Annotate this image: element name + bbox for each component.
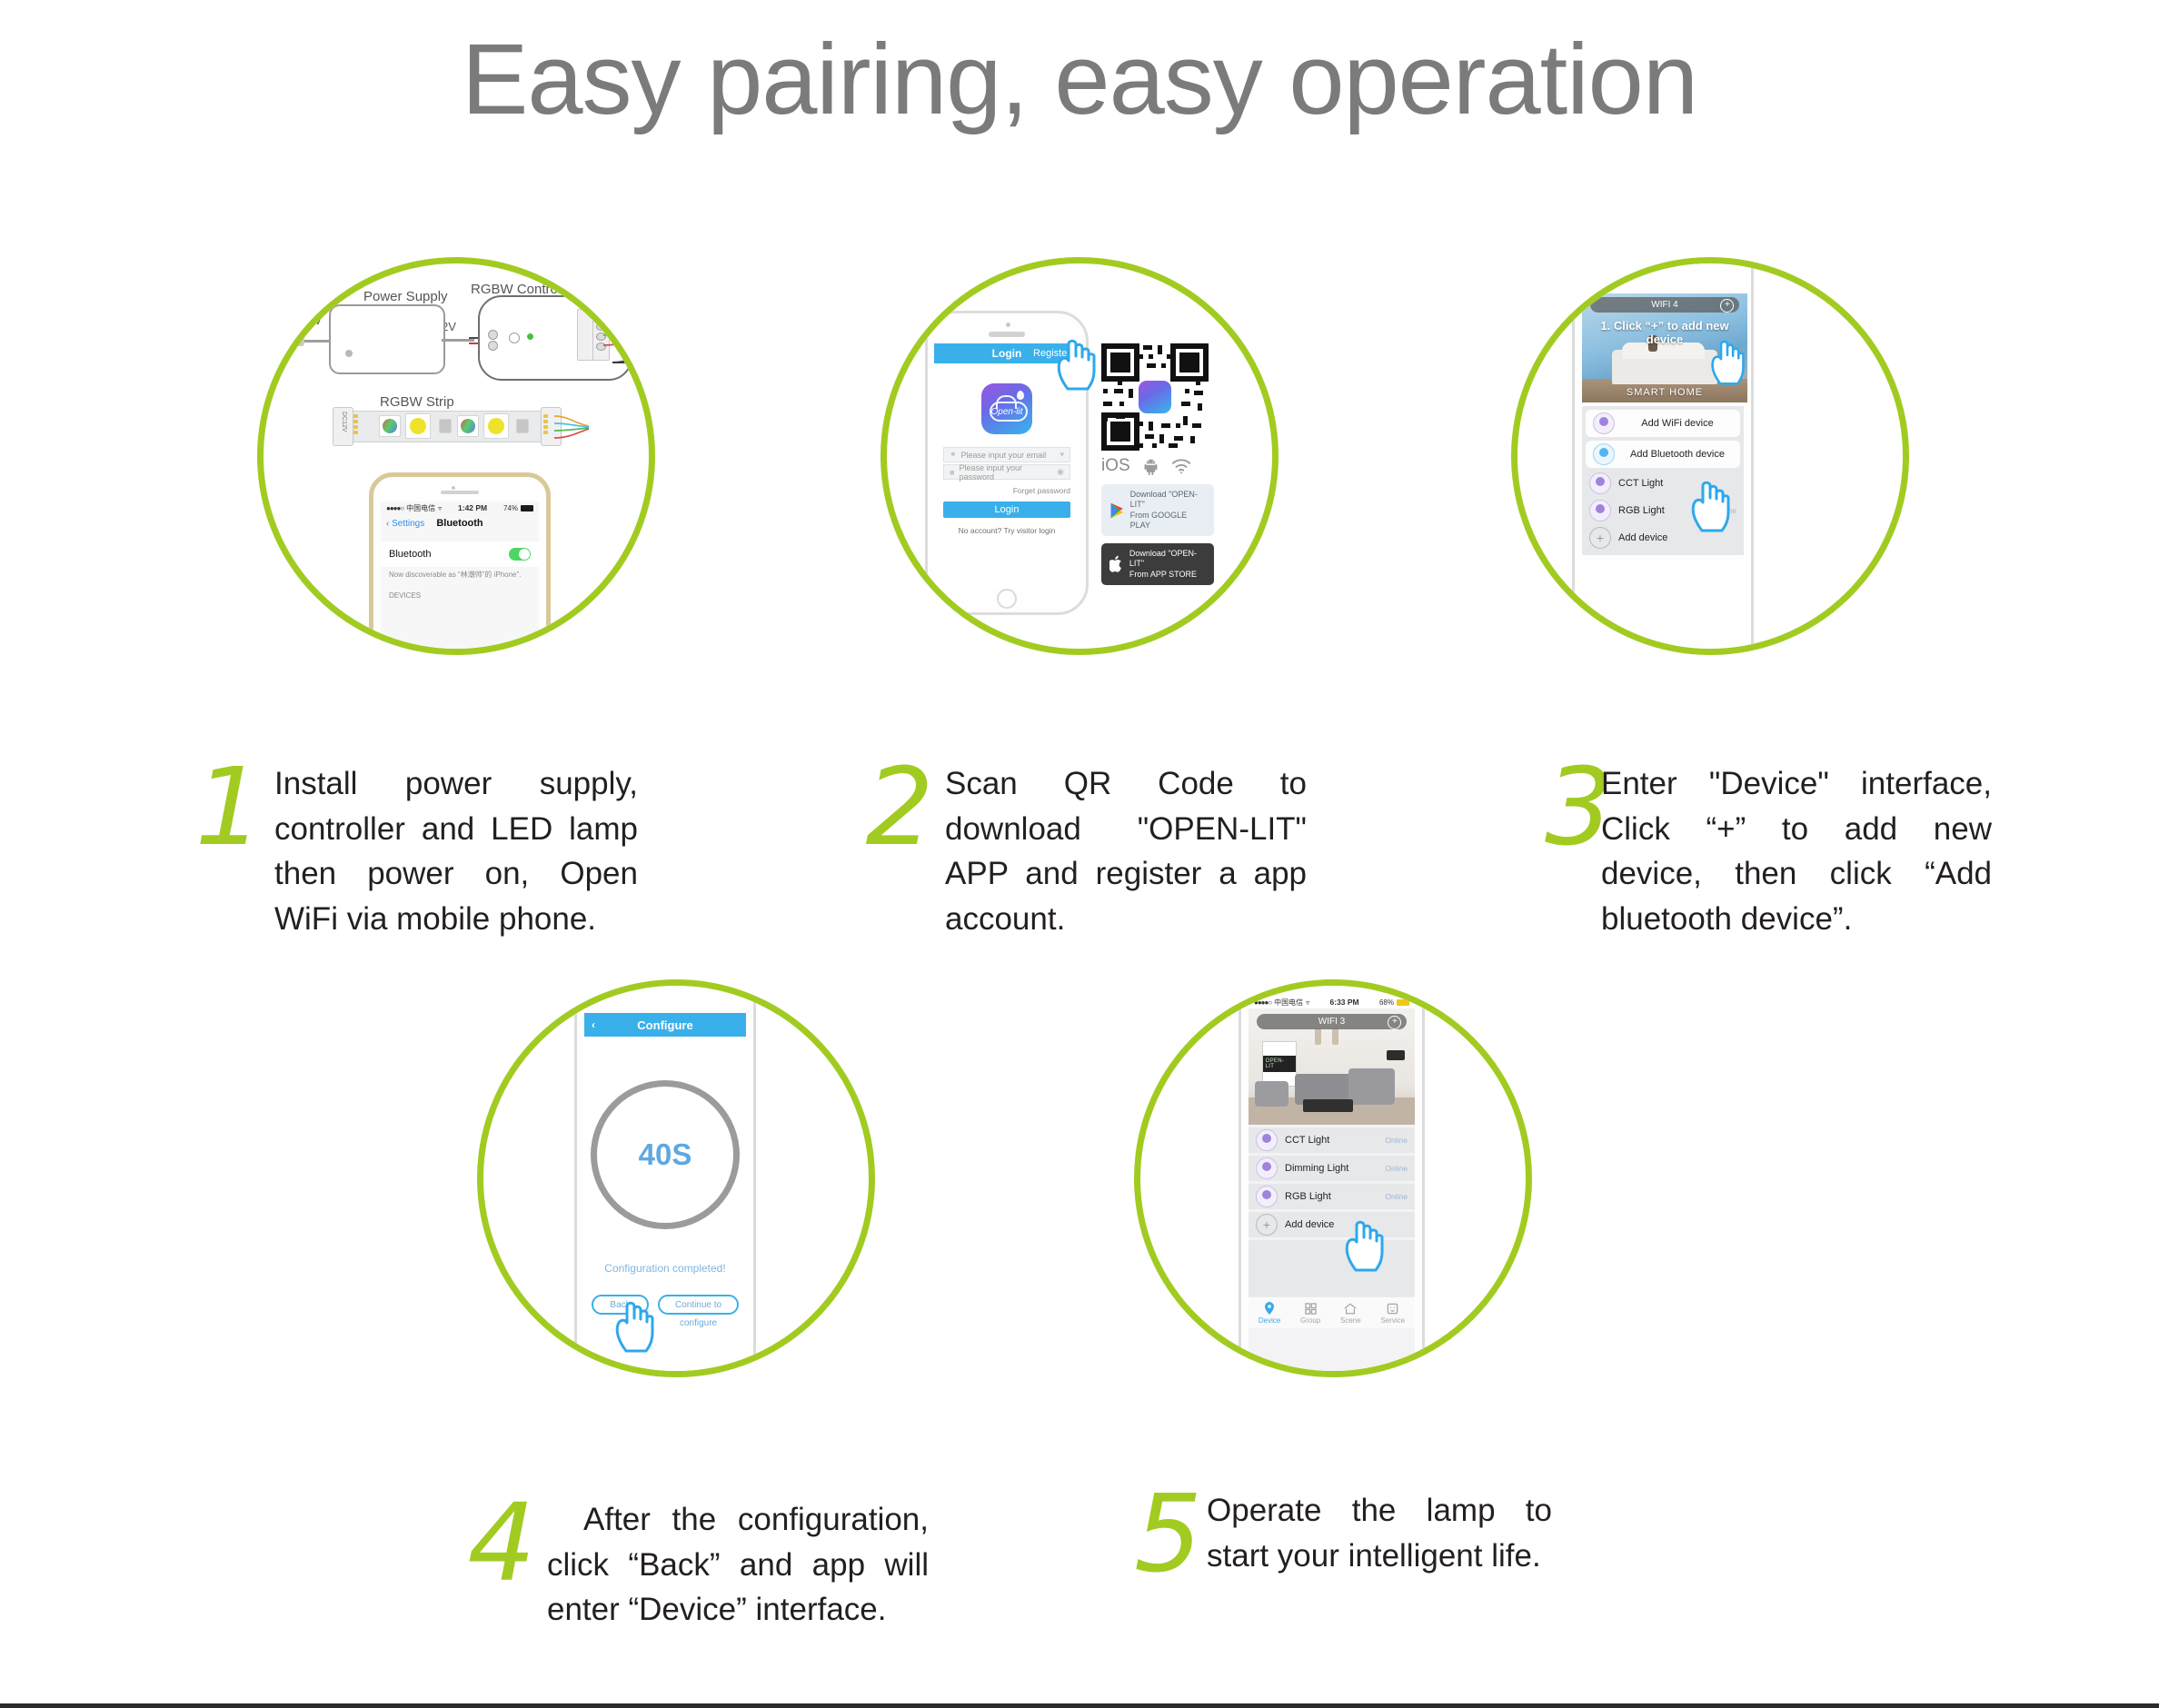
- discoverable-note: Now discoverable as “林潮帅”的 iPhone”.: [381, 567, 539, 582]
- power-supply-screw: [345, 350, 353, 357]
- google-play-badge[interactable]: Download "OPEN-LIT" From GOOGLE PLAY: [1101, 484, 1214, 536]
- google-play-icon: [1109, 501, 1125, 520]
- app-icon: Open-lit: [981, 383, 1032, 434]
- row-label: RGB Light: [1618, 505, 1665, 516]
- earpiece-speaker: [441, 491, 479, 494]
- smart-home-label: SMART HOME: [1582, 387, 1747, 398]
- step-text: Operate the lamp to start your intellige…: [1207, 1488, 1552, 1578]
- plus-circle-icon: +: [1589, 527, 1611, 549]
- battery-icon: [521, 505, 533, 511]
- configure-title: Configure: [637, 1018, 692, 1032]
- volume-button[interactable]: [1572, 375, 1574, 395]
- bulb-icon: [1256, 1129, 1278, 1151]
- bulb-icon: [1256, 1186, 1278, 1207]
- ac-cable: [304, 340, 329, 343]
- row-label: CCT Light: [1618, 478, 1663, 489]
- clock-label: 6:33 PM: [1330, 998, 1359, 1007]
- silent-switch[interactable]: [1239, 1061, 1240, 1076]
- eye-icon[interactable]: ◉: [1057, 467, 1064, 477]
- device-status: Online: [1385, 1164, 1408, 1173]
- devices-section-header: DEVICES: [381, 582, 539, 602]
- step-3-illustration-circle: WIFI 4 + 1. Click “+” to add new device …: [1511, 257, 1909, 655]
- step-text: After the configuration, click “Back” an…: [547, 1497, 929, 1633]
- grid-icon: [1305, 1303, 1317, 1315]
- register-button[interactable]: Register: [1033, 348, 1070, 359]
- password-placeholder: Please input your password: [959, 463, 1052, 482]
- dc-cable: [442, 339, 474, 342]
- bulb-bluetooth-icon: [1593, 443, 1615, 465]
- poster-label: OPEN-LIT: [1263, 1056, 1296, 1072]
- ac-plug-pin: [274, 350, 277, 362]
- power-supply-box: [329, 304, 445, 374]
- settings-nav-bar: ‹ Settings Bluetooth: [381, 514, 539, 532]
- card-icon: [1387, 1303, 1398, 1315]
- device-status: Online: [1714, 506, 1736, 515]
- configuration-status-text: Configuration completed!: [584, 1262, 746, 1275]
- device-row-add-device[interactable]: + Add device: [1582, 525, 1744, 550]
- tab-label: Device: [1259, 1316, 1280, 1325]
- device-status: Online: [1385, 1192, 1408, 1201]
- device-row-cct-light[interactable]: CCT Light Online: [1249, 1127, 1415, 1153]
- platform-row: iOS: [1101, 456, 1238, 476]
- tab-label: Service: [1380, 1316, 1405, 1325]
- device-row-add-device[interactable]: + Add device: [1249, 1212, 1415, 1237]
- strip-white-led: [483, 413, 509, 439]
- phone-device-list: WIFI 4 + 1. Click “+” to add new device …: [1572, 257, 1754, 655]
- volume-button[interactable]: [1572, 346, 1574, 366]
- strip-label: RGBW Strip: [380, 394, 454, 410]
- lock-icon: ■: [950, 468, 954, 477]
- hero-instruction-overlay: 1. Click “+” to add new device: [1582, 319, 1747, 347]
- step-1-illustration-circle: AC85-256V Power Supply DC12V RGBW Contro…: [257, 257, 655, 655]
- battery-icon: [1397, 999, 1409, 1006]
- ios-label: iOS: [1101, 456, 1130, 476]
- strip-pad: [543, 414, 548, 418]
- step-4-caption: 4 After the configuration, click “Back” …: [465, 1497, 956, 1633]
- ac-plug-pin: [280, 350, 283, 362]
- email-field[interactable]: ⚫ Please input your email ▾: [943, 447, 1070, 462]
- front-camera-icon: [452, 486, 455, 490]
- carrier-label: 中国电信: [1274, 998, 1303, 1008]
- home-button[interactable]: [997, 589, 1017, 609]
- back-chevron-icon[interactable]: ‹: [592, 1018, 595, 1031]
- step-number: 1: [193, 761, 265, 853]
- volume-button[interactable]: [574, 1075, 576, 1095]
- strip-rgb-led: [457, 415, 479, 437]
- qr-eye: [1170, 343, 1209, 382]
- chevron-down-icon[interactable]: ▾: [1060, 450, 1064, 460]
- silent-switch[interactable]: [1572, 321, 1574, 333]
- device-row-rgb-light[interactable]: RGB Light Online: [1249, 1184, 1415, 1209]
- row-label: Add device: [1285, 1219, 1334, 1230]
- step-text: Scan QR Code to download "OPEN-LIT" APP …: [945, 761, 1307, 942]
- step-2-caption: 2 Scan QR Code to download "OPEN-LIT" AP…: [863, 761, 1345, 942]
- location-pin-icon: [1264, 1302, 1275, 1315]
- bluetooth-toggle-row[interactable]: Bluetooth: [381, 541, 539, 567]
- ios-status-bar: ●●●●○ 中国电信 ▿ 1:42 PM 74%: [381, 501, 539, 514]
- controller-terminal-screw: [488, 341, 498, 351]
- earpiece-speaker: [989, 332, 1025, 337]
- device-row-cct-light[interactable]: CCT Light: [1582, 471, 1744, 495]
- app-store-badge[interactable]: Download "OPEN-LIT" From APP STORE: [1101, 543, 1214, 585]
- tab-scene[interactable]: Scene: [1340, 1303, 1361, 1328]
- strip-pad: [353, 414, 358, 418]
- strip-resistor: [439, 419, 452, 433]
- row-label: CCT Light: [1285, 1135, 1329, 1146]
- android-icon: [1142, 458, 1159, 475]
- step-3-caption: 3 Enter "Device" interface, Click “+” to…: [1545, 761, 2035, 942]
- strip-input-wires: [552, 409, 607, 447]
- back-button[interactable]: Back: [592, 1295, 649, 1315]
- carrier-label: 中国电信: [406, 503, 435, 513]
- step-text: Enter "Device" interface, Click “+” to a…: [1601, 761, 1992, 942]
- wifi-icon: [1171, 459, 1191, 474]
- battery-percent-label: 74%: [503, 504, 518, 512]
- visitor-login-link[interactable]: No account? Try visitor login: [943, 526, 1070, 535]
- front-camera-icon: [1006, 323, 1010, 327]
- strip-pad: [543, 425, 548, 429]
- strip-rgb-led: [379, 415, 401, 437]
- phone-device-control-screen: ●●●●○ 中国电信 ▿ 6:33 PM 68% OPEN-LIT: [1239, 979, 1425, 1377]
- strip-pad: [353, 420, 358, 423]
- phone-configure-screen: ‹ Configure 40S Configuration completed!…: [574, 979, 756, 1377]
- device-list: Add WiFi device Add Bluetooth device CCT…: [1582, 406, 1744, 555]
- tab-group[interactable]: Group: [1300, 1303, 1320, 1328]
- user-icon: ⚫: [950, 450, 957, 460]
- step-1-caption: 1 Install power supply, controller and L…: [193, 761, 674, 942]
- controller-output-wires: [602, 307, 655, 363]
- silent-switch[interactable]: [574, 1048, 576, 1060]
- back-to-settings-button[interactable]: ‹ Settings: [386, 519, 424, 529]
- row-label: Dimming Light: [1285, 1163, 1348, 1174]
- step-number: 2: [863, 761, 936, 853]
- password-field[interactable]: ■ Please input your password ◉: [943, 464, 1070, 480]
- controller-button: [509, 333, 520, 343]
- device-row-rgb-light[interactable]: RGB Light Online: [1582, 498, 1744, 522]
- plus-circle-icon: +: [1256, 1214, 1278, 1236]
- ac-plug-body: [273, 333, 286, 351]
- login-button[interactable]: Login: [943, 501, 1070, 518]
- apple-icon: [1109, 555, 1124, 573]
- step-text: Install power supply, controller and LED…: [274, 761, 638, 942]
- volume-button[interactable]: [574, 1104, 576, 1124]
- login-title: Login: [992, 347, 1022, 360]
- add-wifi-device-row[interactable]: Add WiFi device: [1586, 410, 1740, 437]
- house-icon: [1344, 1303, 1357, 1315]
- step-5-caption: 5 Operate the lamp to start your intelli…: [1134, 1488, 1552, 1580]
- forget-password-link[interactable]: Forget password: [943, 486, 1070, 495]
- bulb-icon: [1256, 1157, 1278, 1179]
- spark-icon: [1017, 391, 1024, 400]
- wifi-name-label: WIFI 3: [1318, 1017, 1345, 1027]
- strip-pad: [543, 420, 548, 423]
- row-label: Add device: [1618, 532, 1667, 543]
- row-label: RGB Light: [1285, 1191, 1331, 1202]
- ios-status-bar: ●●●●○ 中国电信 ▿ 6:33 PM 68%: [1249, 996, 1415, 1008]
- step-2-illustration-circle: Login Register Open-lit ⚫ Pl: [881, 257, 1278, 655]
- countdown-value: 40S: [639, 1137, 692, 1172]
- strip-pad: [353, 431, 358, 434]
- app-store-line1: Download "OPEN-LIT": [1129, 549, 1206, 570]
- signal-dots-icon: ●●●●○: [1254, 998, 1271, 1007]
- battery-percent-label: 68%: [1379, 998, 1394, 1007]
- qr-download-block: iOS: [1101, 343, 1238, 585]
- step-5-illustration-circle: ●●●●○ 中国电信 ▿ 6:33 PM 68% OPEN-LIT: [1134, 979, 1532, 1377]
- step-number: 5: [1134, 1488, 1198, 1580]
- continue-to-configure-button[interactable]: Continue to configure: [658, 1295, 739, 1315]
- bottom-tab-bar: Device Group Scene: [1249, 1296, 1415, 1328]
- app-icon-label: Open-lit: [981, 407, 1032, 417]
- step-number: 3: [1545, 761, 1592, 853]
- wifi-selector-pill[interactable]: WIFI 3: [1257, 1014, 1407, 1029]
- strip-pin-label: DC12V: [341, 412, 347, 432]
- bulb-icon: [1589, 500, 1611, 521]
- strip-pad: [353, 425, 358, 429]
- volume-button[interactable]: [1239, 1091, 1240, 1113]
- volume-button[interactable]: [1239, 1123, 1240, 1145]
- device-status: Online: [1385, 1136, 1408, 1145]
- bulb-wifi-icon: [1593, 412, 1615, 434]
- row-label: Add WiFi device: [1622, 418, 1733, 429]
- earpiece-speaker: [1312, 979, 1352, 985]
- controller-status-led: [527, 333, 533, 340]
- power-supply-label: Power Supply: [363, 289, 448, 304]
- wifi-icon: ▿: [1306, 998, 1309, 1007]
- nav-title: Bluetooth: [436, 518, 483, 529]
- email-placeholder: Please input your email: [961, 451, 1047, 460]
- wifi-selector-pill[interactable]: WIFI 4: [1590, 297, 1739, 313]
- login-appbar: Login Register: [934, 343, 1079, 363]
- strip-pad: [543, 431, 548, 434]
- add-bluetooth-device-row[interactable]: Add Bluetooth device: [1586, 441, 1740, 468]
- google-play-line1: Download "OPEN-LIT": [1130, 490, 1206, 511]
- tab-service[interactable]: Service: [1380, 1303, 1405, 1328]
- wifi-icon: ▿: [438, 504, 442, 512]
- qr-code[interactable]: [1101, 343, 1209, 451]
- device-row-dimming-light[interactable]: Dimming Light Online: [1249, 1156, 1415, 1181]
- infographic-page: Easy pairing, easy operation AC85-256V P…: [0, 0, 2159, 1708]
- bottom-divider: [0, 1703, 2159, 1708]
- qr-center-app-icon: [1139, 381, 1171, 413]
- configure-appbar: ‹ Configure: [584, 1013, 746, 1037]
- strip-white-led: [405, 413, 431, 439]
- clock-label: 1:42 PM: [458, 503, 487, 512]
- wifi-name-label: WIFI 4: [1651, 300, 1677, 310]
- google-play-line2: From GOOGLE PLAY: [1130, 511, 1206, 531]
- tab-label: Scene: [1340, 1316, 1361, 1325]
- bluetooth-row-label: Bluetooth: [389, 549, 431, 560]
- open-lit-poster: OPEN-LIT: [1262, 1041, 1297, 1087]
- controller-terminal-screw: [488, 330, 498, 340]
- row-label: Add Bluetooth device: [1622, 449, 1733, 460]
- tab-label: Group: [1300, 1316, 1320, 1325]
- smart-home-hero-image: WIFI 4 + 1. Click “+” to add new device …: [1582, 293, 1747, 402]
- countdown-ring: 40S: [591, 1080, 740, 1229]
- step-number: 4: [465, 1497, 538, 1589]
- ac-plug-adapter: [286, 336, 304, 346]
- step-4-illustration-circle: ‹ Configure 40S Configuration completed!…: [477, 979, 875, 1377]
- signal-dots-icon: ●●●●○: [386, 504, 403, 512]
- device-list: CCT Light Online Dimming Light Online RG…: [1249, 1127, 1415, 1296]
- app-store-line2: From APP STORE: [1129, 570, 1206, 580]
- ac-voltage-label: AC85-256V: [261, 313, 322, 327]
- strip-resistor: [516, 419, 529, 433]
- bluetooth-toggle-switch[interactable]: [509, 548, 531, 561]
- bulb-icon: [1589, 472, 1611, 494]
- phone-login-screen: Login Register Open-lit ⚫ Pl: [925, 311, 1089, 615]
- living-room-hero-image: OPEN-LIT WIFI 3 +: [1249, 1008, 1415, 1125]
- page-title: Easy pairing, easy operation: [0, 22, 2159, 137]
- phone-bluetooth-settings: ●●●●○ 中国电信 ▿ 1:42 PM 74% ‹ Settings Blue…: [369, 472, 551, 655]
- tab-device[interactable]: Device: [1259, 1302, 1280, 1328]
